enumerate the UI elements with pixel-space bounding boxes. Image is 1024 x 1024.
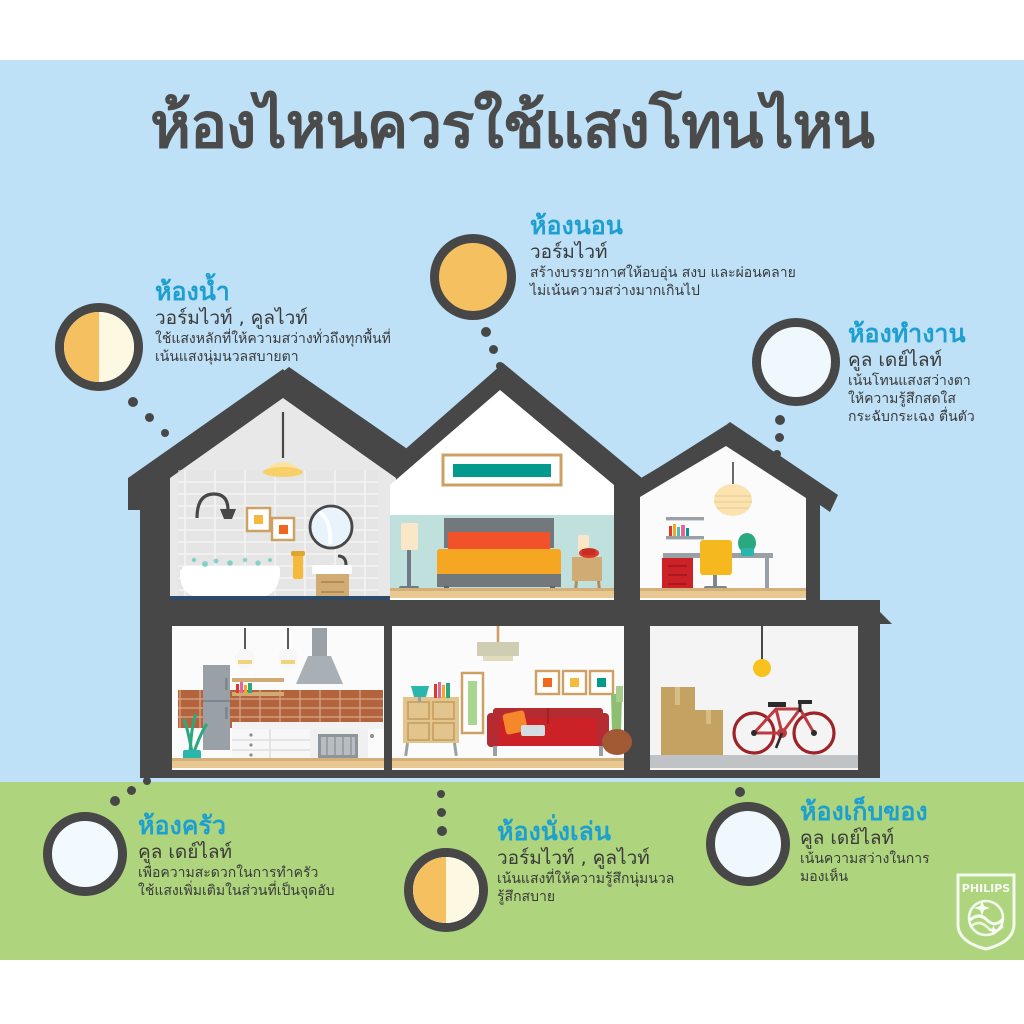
bulb-swatch-kitchen[interactable] [43, 812, 127, 896]
callout-desc2-living: รู้สึกสบาย [497, 889, 787, 907]
bulb-swatch-storage[interactable] [706, 802, 790, 886]
leader-dot [437, 790, 445, 798]
callout-desc3-office: กระฉับกระเฉง ตื่นตัว [848, 409, 1024, 427]
callout-desc2-office: ให้ความรู้สึกสดใส [848, 391, 1024, 409]
callout-desc1-bedroom: สร้างบรรยากาศให้อบอุ่น สงบ และผ่อนคลาย [530, 265, 870, 283]
leader-dot [773, 450, 781, 458]
leader-dot [775, 415, 785, 425]
callout-desc1-storage: เน้นความสว่างในการ [800, 851, 1015, 869]
leader-dot [775, 433, 784, 442]
bulb-swatch-living[interactable] [404, 848, 488, 932]
room-bedroom [390, 390, 614, 602]
room-storage [650, 626, 858, 770]
swatch-cool-half [446, 857, 479, 923]
floor-slab [140, 600, 820, 624]
leader-dot [496, 362, 504, 370]
callout-title-storage: ห้องเก็บของ [800, 798, 1015, 826]
swatch-cool-half [99, 312, 134, 382]
callout-tone-storage: คูล เดย์ไลท์ [800, 828, 1015, 850]
leader-dot [127, 786, 136, 795]
leader-dot [145, 413, 154, 422]
infographic-canvas: ห้องไหนควรใช้แสงโทนไหน ห้องน้ำ วอร์มไวท์… [0, 0, 1024, 1024]
callout-desc2-bathroom: เน้นแสงนุ่มนวลสบายตา [155, 349, 485, 367]
swatch-warm-half [64, 312, 99, 382]
callout-desc2-bedroom: ไม่เน้นความสว่างมากเกินไป [530, 283, 870, 301]
swatch-warm-half [413, 857, 446, 923]
room-kitchen [172, 626, 384, 770]
callout-desc1-office: เน้นโทนแสงสว่างตา [848, 373, 1024, 391]
leader-dot [161, 429, 169, 437]
page-title: ห้องไหนควรใช้แสงโทนไหน [0, 95, 1024, 157]
leader-dot [437, 808, 446, 817]
bulb-swatch-bedroom[interactable] [430, 234, 516, 320]
callout-desc1-bathroom: ใช้แสงหลักที่ให้ความสว่างทั่วถึงทุกพื้นท… [155, 331, 485, 349]
philips-logo: PHILIPS [955, 872, 1017, 952]
leader-dot [128, 397, 138, 407]
top-white-band [0, 0, 1024, 60]
bottom-white-band [0, 960, 1024, 1024]
callout-title-kitchen: ห้องครัว [138, 812, 468, 840]
bulb-swatch-bathroom[interactable] [55, 303, 143, 391]
callout-title-office: ห้องทำงาน [848, 320, 1024, 348]
leader-dot [489, 345, 498, 354]
philips-wordmark: PHILIPS [962, 882, 1011, 895]
room-living [392, 626, 632, 770]
leader-dot [735, 787, 745, 797]
leader-dot [143, 777, 151, 785]
leader-dot [481, 327, 491, 337]
callout-tone-office: คูล เดย์ไลท์ [848, 350, 1024, 372]
callout-tone-bedroom: วอร์มไวท์ [530, 242, 870, 264]
callout-tone-bathroom: วอร์มไวท์ , คูลไวท์ [155, 308, 485, 330]
leader-dot [110, 796, 120, 806]
bulb-swatch-office[interactable] [752, 318, 840, 406]
leader-dot [437, 826, 447, 836]
callout-title-bedroom: ห้องนอน [530, 212, 870, 240]
